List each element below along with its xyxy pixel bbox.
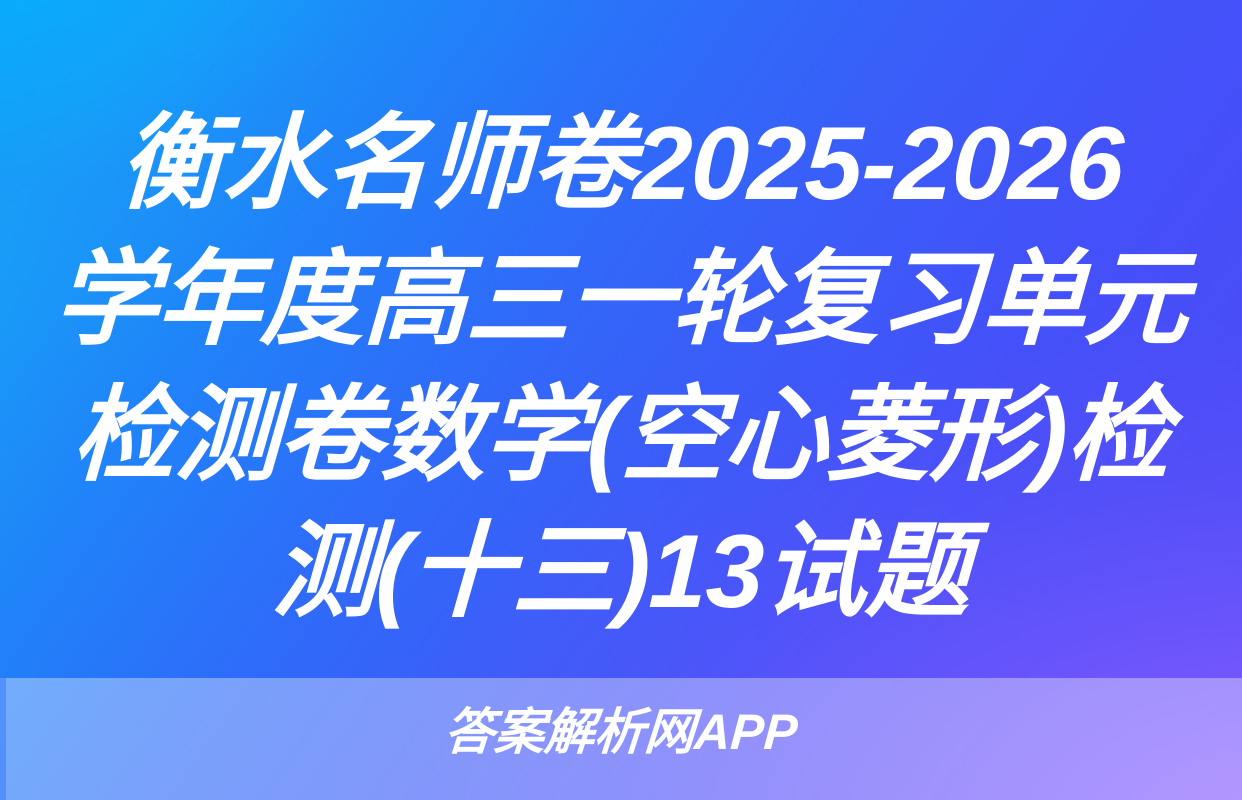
poster-canvas: 衡水名师卷2025-2026 学年度高三一轮复习单元 检测卷数学(空心菱形)检 … — [0, 0, 1242, 800]
title-line-3: 检测卷数学(空心菱形)检 — [0, 368, 1242, 504]
poster-title: 衡水名师卷2025-2026 学年度高三一轮复习单元 检测卷数学(空心菱形)检 … — [0, 96, 1242, 640]
app-watermark: 答案解析网APP — [0, 703, 1242, 761]
title-line-1: 衡水名师卷2025-2026 — [0, 96, 1242, 232]
title-line-2: 学年度高三一轮复习单元 — [0, 232, 1242, 368]
title-line-4: 测(十三)13试题 — [0, 504, 1242, 640]
